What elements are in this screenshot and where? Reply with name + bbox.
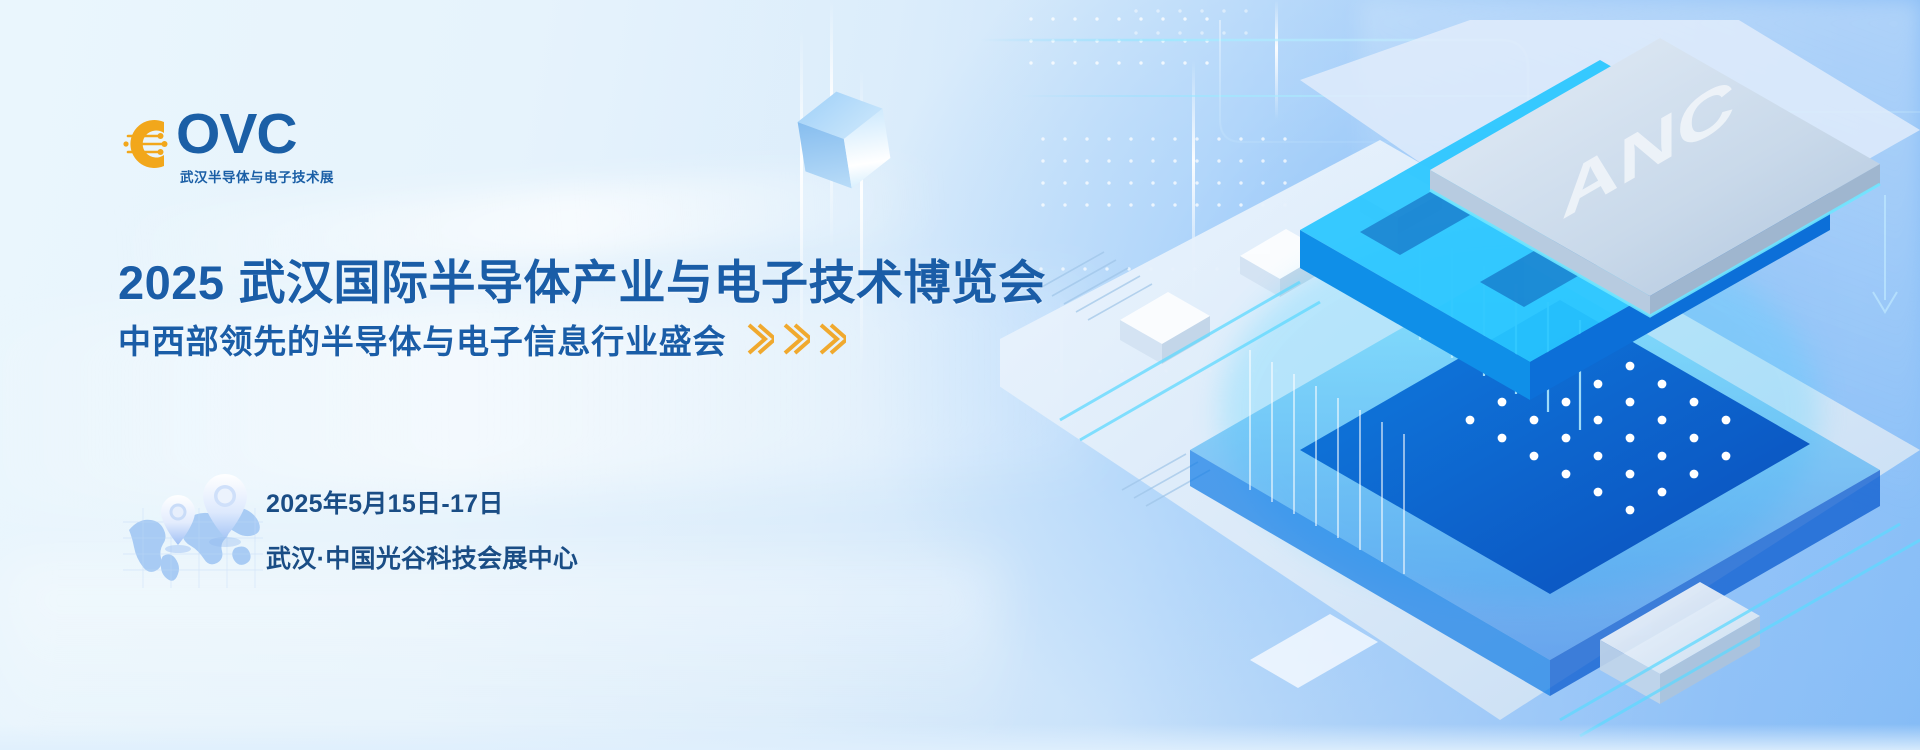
- world-map-location-pins-icon: [123, 472, 263, 592]
- event-info: 2025年5月15日-17日 武汉·中国光谷科技会展中心: [118, 470, 678, 600]
- dot-grid-decor: [1030, 258, 1330, 284]
- dot-grid-decor: [1032, 128, 1292, 224]
- dot-grid-decor: [1125, 0, 1255, 48]
- light-bar-decor: [1192, 60, 1195, 310]
- light-sweep-decor: [1360, 0, 1920, 750]
- page-subtitle: 中西部领先的半导体与电子信息行业盛会: [118, 315, 726, 363]
- dot-grid-decor: [1020, 8, 1220, 78]
- logo-subtitle: 武汉半导体与电子技术展: [180, 166, 334, 186]
- chevron-group: [746, 322, 846, 356]
- brand-logo[interactable]: OVC 武汉半导体与电子技术展: [118, 112, 538, 192]
- page-title: 2025武汉国际半导体产业与电子技术博览会: [118, 244, 1046, 313]
- event-date: 2025年5月15日-17日: [266, 484, 578, 520]
- title-year: 2025: [118, 256, 225, 309]
- page-subtitle-row: 中西部领先的半导体与电子信息行业盛会: [118, 315, 846, 363]
- circuit-traces-decor: [980, 0, 1920, 750]
- title-name: 武汉国际半导体产业与电子技术博览会: [239, 256, 1047, 309]
- ovc-circuit-c-mark-icon: [118, 116, 174, 172]
- light-bar-decor: [1275, 0, 1278, 120]
- logo-wordmark: OVC: [176, 106, 334, 163]
- svg-text:ANC: ANC: [1561, 62, 1734, 234]
- dot-grid-decor: [1045, 360, 1295, 386]
- double-chevron-right-icon: [746, 322, 774, 356]
- double-chevron-right-icon: [818, 322, 846, 356]
- banner-content: OVC 武汉半导体与电子技术展 2025武汉国际半导体产业与电子技术博览会 中西…: [118, 0, 978, 750]
- event-venue: 武汉·中国光谷科技会展中心: [266, 539, 578, 575]
- light-bar-decor: [1060, 300, 1063, 420]
- isometric-semiconductor-chip-icon: ANC: [1000, 20, 1920, 750]
- event-banner: ANC: [0, 0, 1920, 750]
- double-chevron-right-icon: [782, 322, 810, 356]
